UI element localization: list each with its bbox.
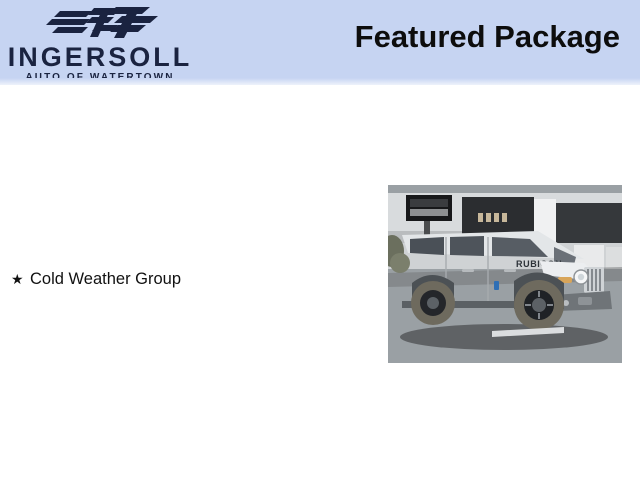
- dealer-tagline: AUTO OF WATERTOWN: [0, 72, 200, 83]
- page-header: INGERSOLL AUTO OF WATERTOWN Featured Pac…: [0, 0, 640, 85]
- page-title: Featured Package: [355, 18, 620, 56]
- feature-label: Cold Weather Group: [30, 268, 181, 290]
- dealer-wordmark: INGERSOLL: [0, 44, 200, 71]
- dealer-logo: INGERSOLL AUTO OF WATERTOWN: [0, 2, 200, 84]
- star-bullet-icon: ★: [11, 268, 30, 290]
- vehicle-photo: RUBICON: [388, 185, 622, 363]
- list-item: ★ Cold Weather Group: [0, 268, 370, 290]
- feature-list: ★ Cold Weather Group: [0, 268, 370, 296]
- ingersoll-wing-emblem-icon: [46, 6, 168, 42]
